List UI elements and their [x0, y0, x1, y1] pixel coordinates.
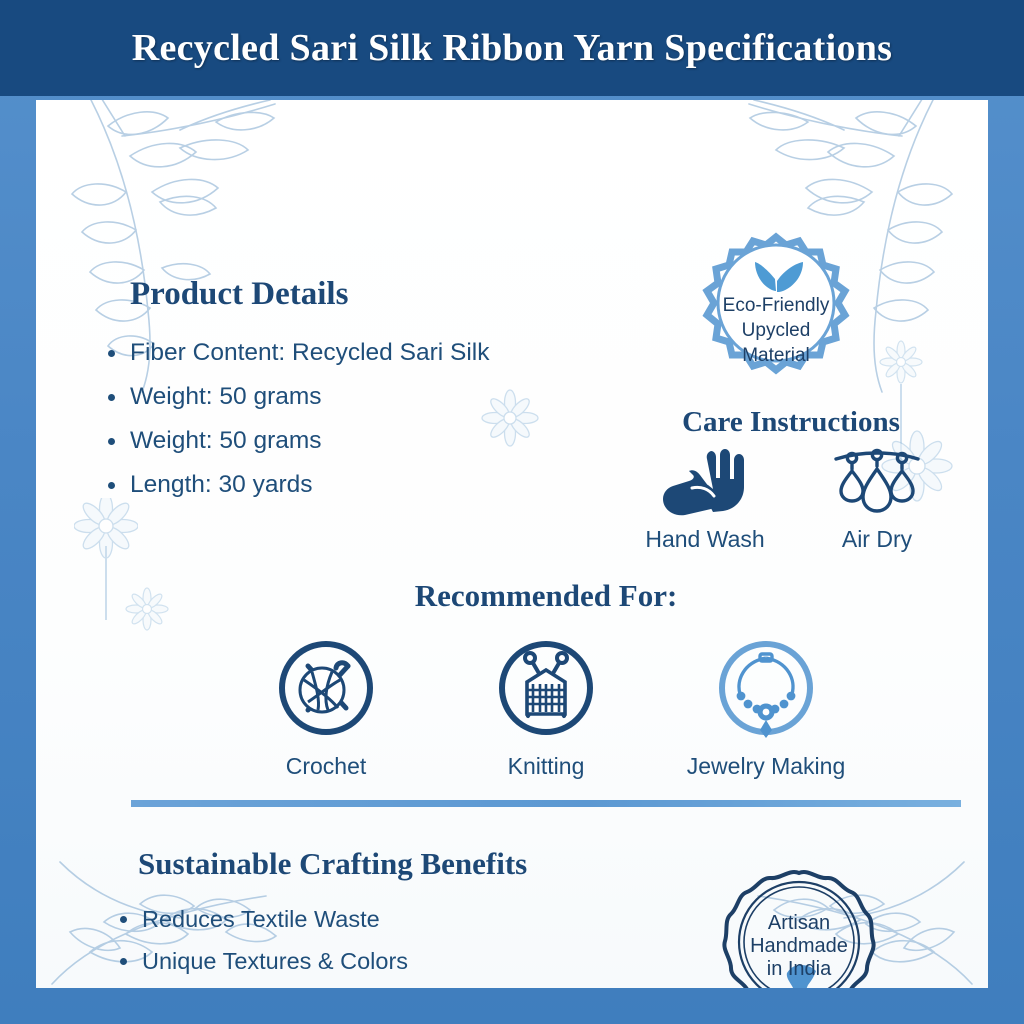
care-instructions-section: Care Instructions Hand Wash — [626, 406, 956, 553]
eco-badge-line-3: Material — [693, 343, 859, 368]
list-item: Weight: 50 grams — [102, 419, 622, 463]
recommended-label: Knitting — [466, 752, 626, 780]
poster: Recycled Sari Silk Ribbon Yarn Specifica… — [0, 0, 1024, 1024]
care-label: Air Dry — [813, 526, 941, 553]
recommended-items-row: Crochet — [131, 636, 961, 780]
recommended-item-crochet: Crochet — [246, 636, 406, 780]
care-instructions-title: Care Instructions — [626, 406, 956, 439]
jewelry-icon — [714, 636, 818, 740]
recommended-label: Crochet — [246, 752, 406, 780]
knitting-icon — [494, 636, 598, 740]
list-item: Fiber Content: Recycled Sari Silk — [102, 331, 622, 375]
artisan-handmade-badge: Artisan Handmade in India — [713, 867, 885, 988]
flower-decoration-icon — [74, 498, 138, 628]
air-dry-icon — [831, 447, 923, 519]
recommended-item-knitting: Knitting — [466, 636, 626, 780]
eco-badge-line-2: Upycled — [693, 318, 859, 343]
care-label: Hand Wash — [641, 526, 769, 553]
list-item: Unique Textures & Colors — [102, 940, 642, 982]
eco-friendly-badge: Eco-Friendly Upycled Material — [693, 231, 859, 397]
care-items-row: Hand Wash Air Dry — [626, 447, 956, 553]
recommended-for-title: Recommended For: — [131, 578, 961, 614]
list-item: Weight: 50 grams — [102, 375, 622, 419]
benefits-section: Sustainable Crafting Benefits Reduces Te… — [102, 846, 642, 988]
page-title: Recycled Sari Silk Ribbon Yarn Specifica… — [132, 26, 893, 70]
recommended-item-jewelry: Jewelry Making — [686, 636, 846, 780]
care-item-air-dry: Air Dry — [813, 447, 941, 553]
eco-badge-line-1: Eco-Friendly — [693, 293, 859, 318]
list-item: Supports Artisans — [102, 982, 642, 988]
list-item: Reduces Textile Waste — [102, 898, 642, 940]
product-details-list: Fiber Content: Recycled Sari Silk Weight… — [102, 331, 622, 507]
list-item: Length: 30 yards — [102, 463, 622, 507]
header-bar: Recycled Sari Silk Ribbon Yarn Specifica… — [0, 0, 1024, 96]
artisan-badge-line-3: in India — [713, 957, 885, 982]
benefits-title: Sustainable Crafting Benefits — [138, 846, 642, 882]
benefits-list: Reduces Textile Waste Unique Textures & … — [102, 898, 642, 988]
product-details-section: Product Details Fiber Content: Recycled … — [102, 276, 622, 507]
recommended-label: Jewelry Making — [686, 752, 846, 780]
care-item-hand-wash: Hand Wash — [641, 447, 769, 553]
artisan-badge-line-2: Handmade — [713, 934, 885, 959]
content-card: Product Details Fiber Content: Recycled … — [36, 100, 988, 988]
section-divider — [131, 800, 961, 807]
product-details-title: Product Details — [130, 276, 622, 313]
recommended-for-section: Recommended For: — [131, 578, 961, 780]
artisan-badge-line-1: Artisan — [713, 911, 885, 936]
hand-wash-icon — [659, 447, 751, 519]
crochet-icon — [274, 636, 378, 740]
